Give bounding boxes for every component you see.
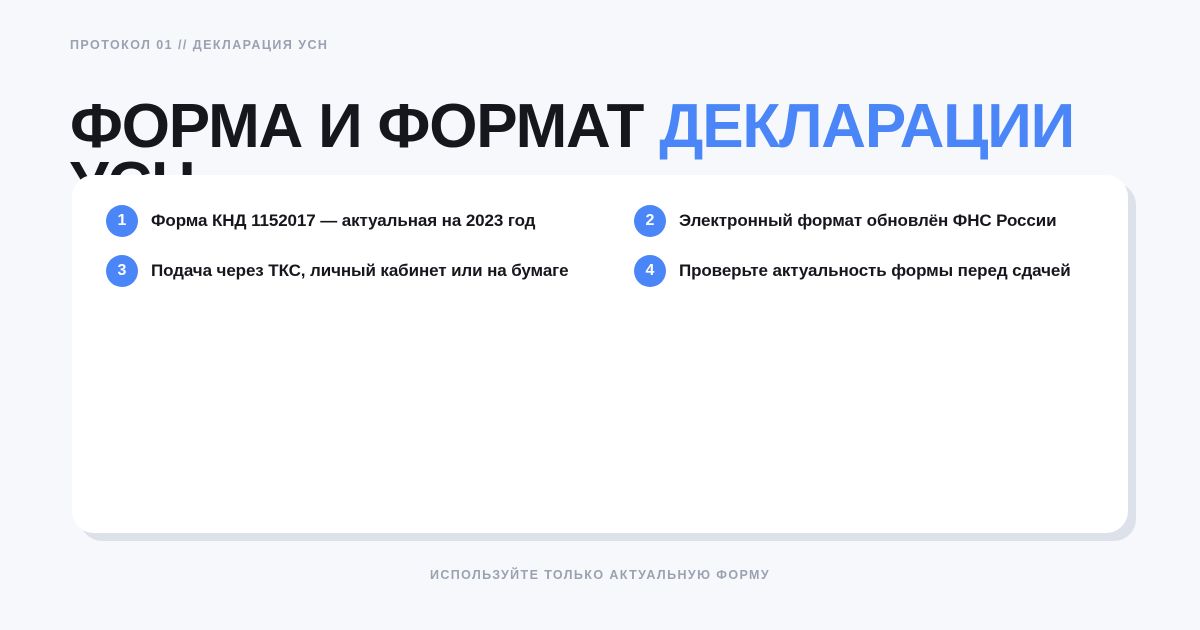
list-item: 3 Подача через ТКС, личный кабинет или н… [106, 255, 634, 287]
list-item: 2 Электронный формат обновлён ФНС России [634, 205, 1094, 237]
eyebrow-label: ПРОТОКОЛ 01 // ДЕКЛАРАЦИЯ УСН [70, 38, 328, 52]
points-card-wrapper: 1 Форма КНД 1152017 — актуальная на 2023… [72, 175, 1128, 533]
footer-note: ИСПОЛЬЗУЙТЕ ТОЛЬКО АКТУАЛЬНУЮ ФОРМУ [0, 568, 1200, 582]
title-accent: ДЕКЛАРАЦИИ [659, 92, 1074, 161]
point-text: Проверьте актуальность формы перед сдаче… [679, 255, 1071, 283]
point-text: Подача через ТКС, личный кабинет или на … [151, 255, 569, 283]
list-item: 4 Проверьте актуальность формы перед сда… [634, 255, 1094, 287]
slide-root: ПРОТОКОЛ 01 // ДЕКЛАРАЦИЯ УСН ФОРМА И ФО… [0, 0, 1200, 630]
list-item: 1 Форма КНД 1152017 — актуальная на 2023… [106, 205, 634, 237]
point-number-badge: 4 [634, 255, 666, 287]
point-number-badge: 3 [106, 255, 138, 287]
point-number-badge: 1 [106, 205, 138, 237]
point-text: Форма КНД 1152017 — актуальная на 2023 г… [151, 205, 535, 233]
points-card: 1 Форма КНД 1152017 — актуальная на 2023… [72, 175, 1128, 533]
points-grid: 1 Форма КНД 1152017 — актуальная на 2023… [106, 205, 1094, 287]
point-text: Электронный формат обновлён ФНС России [679, 205, 1056, 233]
point-number-badge: 2 [634, 205, 666, 237]
